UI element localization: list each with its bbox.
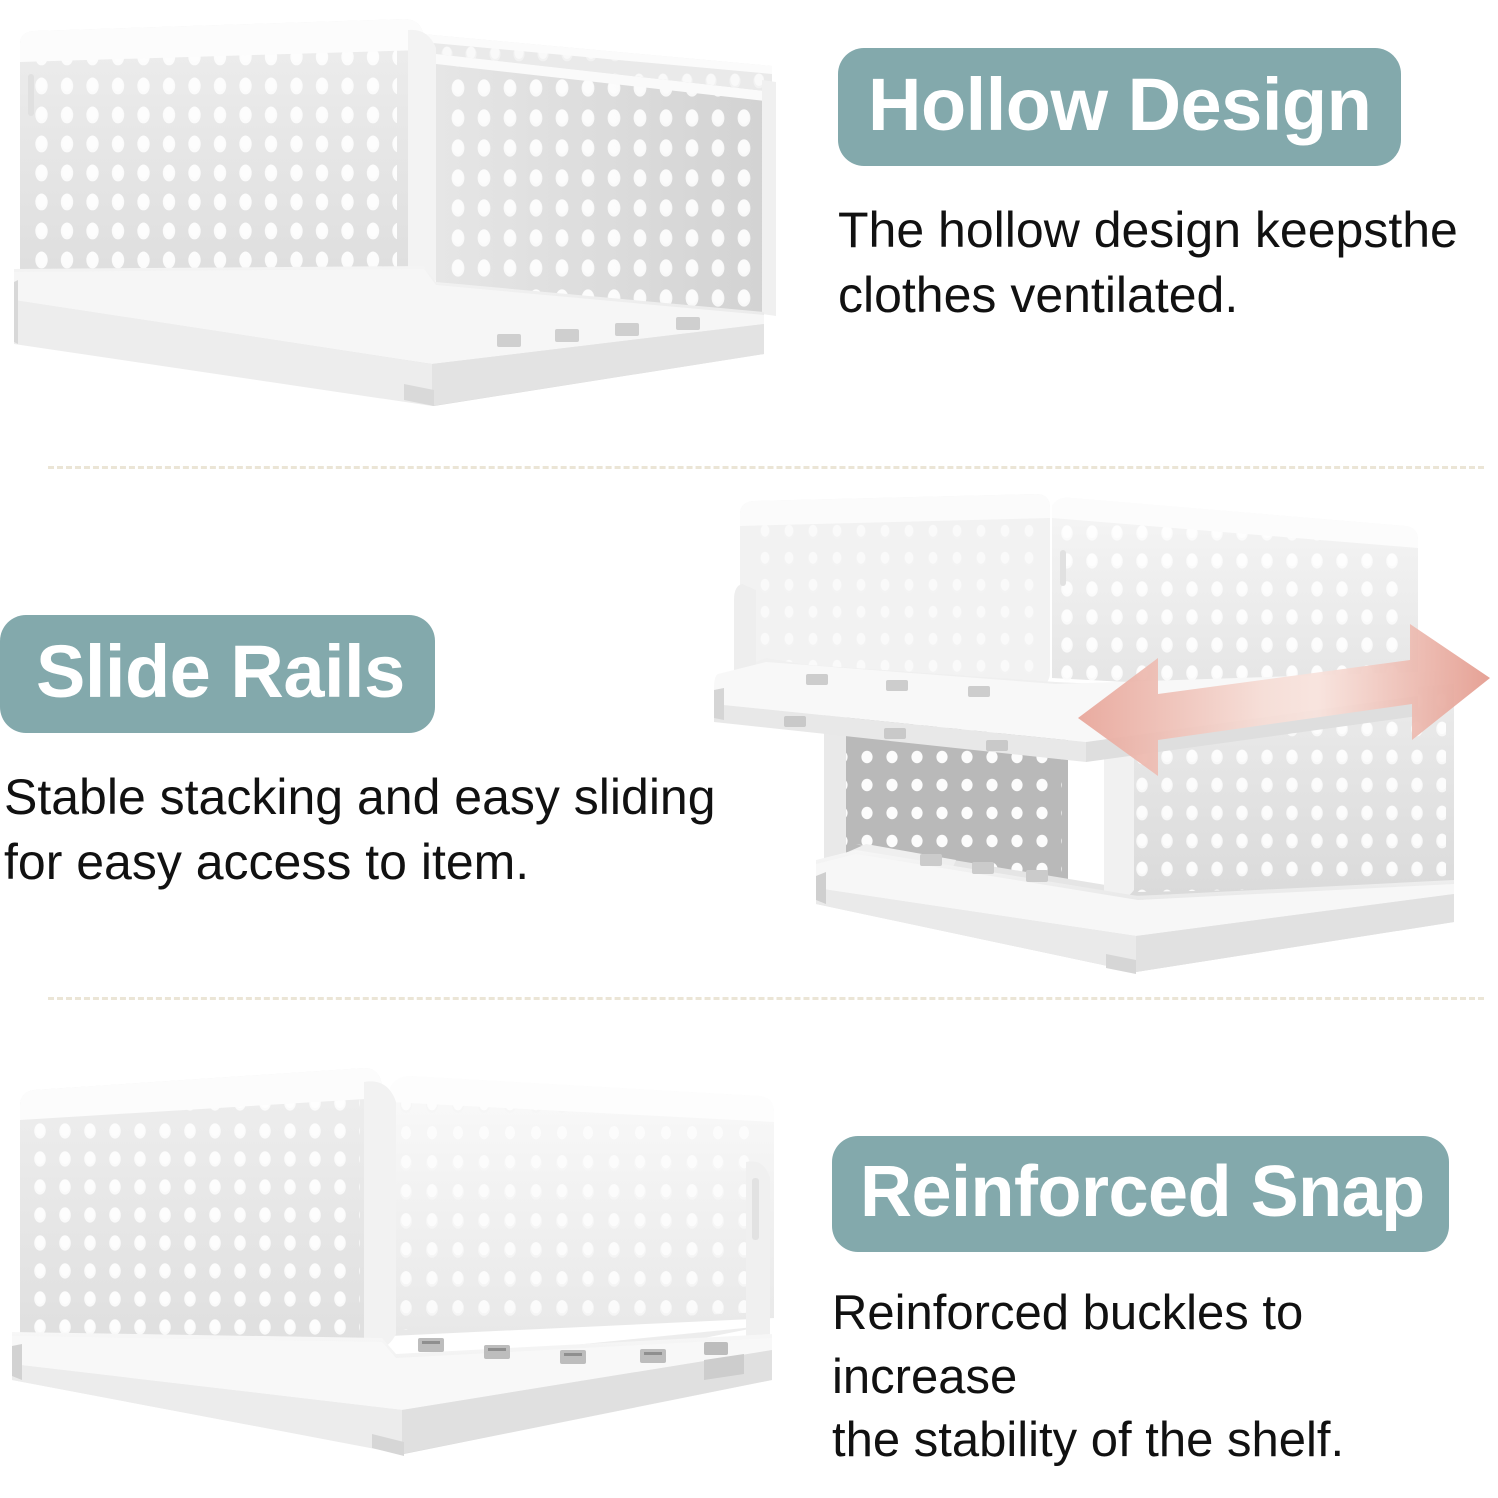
- upper-drawer-sliding: [714, 492, 1426, 762]
- section-badge-reinforced-snap: Reinforced Snap: [832, 1136, 1449, 1252]
- drawer-corner-pillar-bottom: [364, 1081, 396, 1350]
- section-badge-hollow-design: Hollow Design: [838, 48, 1401, 166]
- section-body-reinforced-snap: Reinforced buckles to increase the stabi…: [832, 1282, 1498, 1473]
- text-block-reinforced-snap: Reinforced Snap Reinforced buckles to in…: [832, 1136, 1498, 1473]
- product-image-slide-rails: [706, 492, 1496, 992]
- section-divider-2: [48, 997, 1484, 1000]
- section-body-hollow-design: The hollow design keepsthe clothes venti…: [838, 198, 1488, 328]
- drawer-right-post: [746, 1161, 770, 1350]
- drawer-illustration-middle: [706, 492, 1496, 992]
- drawer-illustration-bottom: [4, 1062, 816, 1490]
- infographic-page: Hollow Design The hollow design keepsthe…: [0, 0, 1498, 1498]
- drawer-illustration-top: [4, 14, 794, 424]
- section-divider-1: [48, 466, 1484, 469]
- product-image-hollow-design: [4, 14, 794, 424]
- section-badge-slide-rails: Slide Rails: [0, 615, 435, 733]
- section-body-slide-rails: Stable stacking and easy sliding for eas…: [4, 765, 720, 895]
- text-block-slide-rails: Slide Rails Stable stacking and easy sli…: [0, 615, 720, 895]
- drawer-back-panel-bottom: [384, 1072, 784, 1342]
- text-block-hollow-design: Hollow Design The hollow design keepsthe…: [838, 48, 1488, 328]
- drawer-corner-pillar: [408, 30, 436, 296]
- product-image-reinforced-snap: [4, 1062, 816, 1490]
